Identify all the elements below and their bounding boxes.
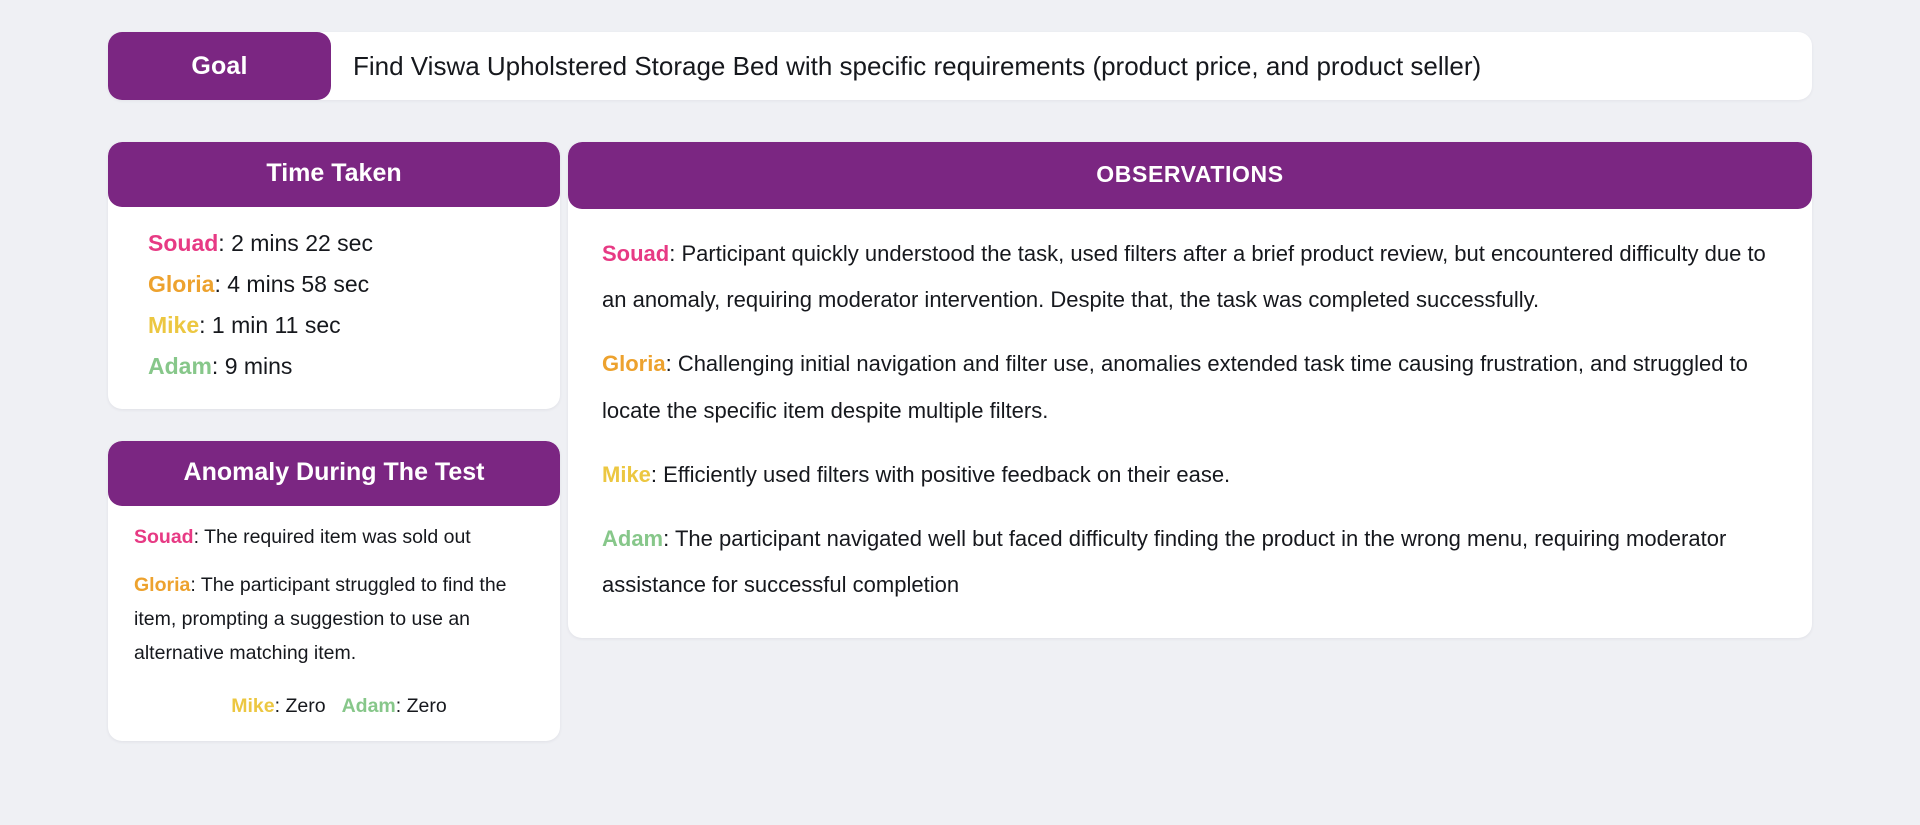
observation-value: The participant navigated well but faced… <box>602 526 1726 597</box>
list-item: Mike: 1 min 11 sec <box>148 305 542 346</box>
observations-card: OBSERVATIONS Souad: Participant quickly … <box>568 142 1812 638</box>
right-column: OBSERVATIONS Souad: Participant quickly … <box>568 142 1812 638</box>
separator: : <box>663 526 675 551</box>
separator: : <box>666 351 678 376</box>
list-item: Mike: Efficiently used filters with posi… <box>602 452 1786 498</box>
separator: : <box>199 312 212 338</box>
anomaly-value: The required item was sold out <box>204 526 471 548</box>
anomaly-body: Souad: The required item was sold out Gl… <box>108 506 560 741</box>
list-item: Souad: 2 mins 22 sec <box>148 223 542 264</box>
goal-text: Find Viswa Upholstered Storage Bed with … <box>331 32 1812 100</box>
observations-body: Souad: Participant quickly understood th… <box>568 209 1812 638</box>
list-item: Gloria: Challenging initial navigation a… <box>602 341 1786 433</box>
time-taken-card: Time Taken Souad: 2 mins 22 sec Gloria: … <box>108 142 560 409</box>
list-item: Mike: ZeroAdam: Zero <box>134 685 544 723</box>
time-taken-title: Time Taken <box>266 159 401 187</box>
left-column: Time Taken Souad: 2 mins 22 sec Gloria: … <box>108 142 560 741</box>
anomaly-header: Anomaly During The Test <box>108 441 560 506</box>
participant-name-souad: Souad <box>134 526 194 548</box>
participant-name-souad: Souad <box>148 230 218 256</box>
time-taken-list: Souad: 2 mins 22 sec Gloria: 4 mins 58 s… <box>126 223 542 387</box>
time-value: 1 min 11 sec <box>212 312 341 338</box>
anomaly-value: Zero <box>407 695 447 717</box>
participant-name-gloria: Gloria <box>602 351 666 376</box>
anomaly-value: Zero <box>285 695 325 717</box>
participant-name-adam: Adam <box>342 695 396 717</box>
separator: : <box>669 241 681 266</box>
separator: : <box>194 526 204 548</box>
anomaly-card: Anomaly During The Test Souad: The requi… <box>108 441 560 741</box>
list-item: Souad: The required item was sold out <box>134 520 544 554</box>
observation-value: Challenging initial navigation and filte… <box>602 351 1748 422</box>
time-taken-body: Souad: 2 mins 22 sec Gloria: 4 mins 58 s… <box>108 207 560 409</box>
participant-name-mike: Mike <box>231 695 274 717</box>
separator: : <box>190 574 200 596</box>
observation-value: Efficiently used filters with positive f… <box>663 462 1230 487</box>
list-item: Souad: Participant quickly understood th… <box>602 231 1786 323</box>
separator: : <box>214 271 227 297</box>
time-taken-header: Time Taken <box>108 142 560 207</box>
separator: : <box>651 462 663 487</box>
participant-name-mike: Mike <box>602 462 651 487</box>
participant-name-souad: Souad <box>602 241 669 266</box>
list-item: Gloria: The participant struggled to fin… <box>134 568 544 670</box>
separator: : <box>275 695 286 717</box>
report-page: Goal Find Viswa Upholstered Storage Bed … <box>0 0 1920 825</box>
separator: : <box>218 230 231 256</box>
participant-name-gloria: Gloria <box>134 574 190 596</box>
participant-name-adam: Adam <box>602 526 663 551</box>
list-item: Gloria: 4 mins 58 sec <box>148 264 542 305</box>
separator: : <box>212 353 225 379</box>
anomaly-title: Anomaly During The Test <box>184 458 485 486</box>
observations-header: OBSERVATIONS <box>568 142 1812 209</box>
list-item: Adam: The participant navigated well but… <box>602 516 1786 608</box>
participant-name-mike: Mike <box>148 312 199 338</box>
time-value: 4 mins 58 sec <box>227 271 369 297</box>
goal-description: Find Viswa Upholstered Storage Bed with … <box>353 51 1481 82</box>
participant-name-adam: Adam <box>148 353 212 379</box>
separator: : <box>396 695 407 717</box>
time-value: 9 mins <box>225 353 293 379</box>
list-item: Adam: 9 mins <box>148 346 542 387</box>
goal-banner: Goal Find Viswa Upholstered Storage Bed … <box>108 32 1812 100</box>
observations-title: OBSERVATIONS <box>1096 161 1283 187</box>
participant-name-gloria: Gloria <box>148 271 214 297</box>
time-value: 2 mins 22 sec <box>231 230 373 256</box>
goal-badge-label: Goal <box>191 52 247 81</box>
goal-badge: Goal <box>108 32 331 100</box>
observation-value: Participant quickly understood the task,… <box>602 241 1766 312</box>
